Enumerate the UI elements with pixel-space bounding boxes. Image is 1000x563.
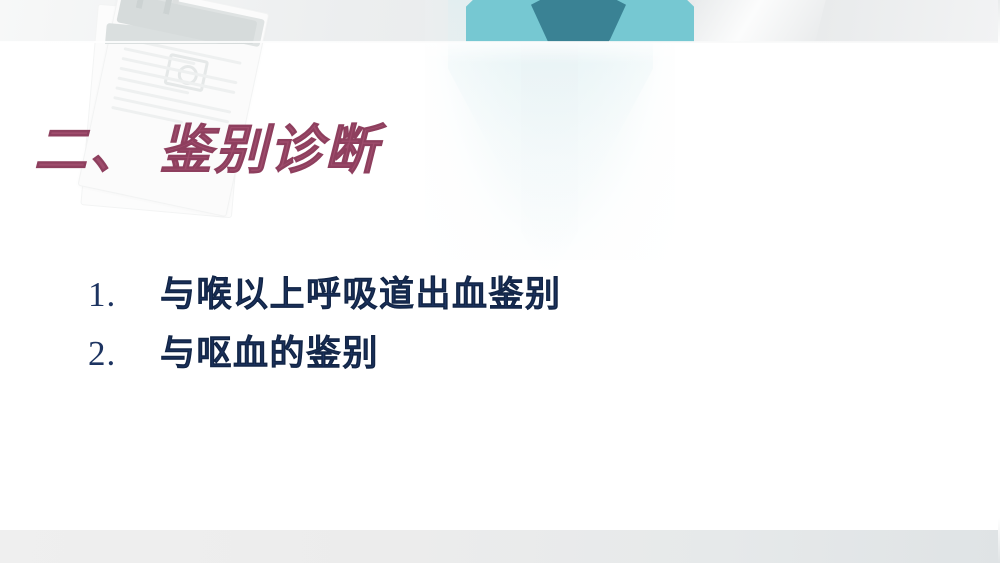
list-item: 2. 与呕血的鉴别 [88,325,562,376]
slide-body-list: 1. 与喉以上呼吸道出血鉴别 2. 与呕血的鉴别 [88,266,562,384]
presentation-slide: 二、 鉴别诊断 1. 与喉以上呼吸道出血鉴别 2. 与呕血的鉴别 [0,0,1000,563]
slide-title: 二、 鉴别诊断 [34,108,379,184]
list-item-text: 与呕血的鉴别 [160,325,379,376]
list-item-number: 1. [88,275,160,315]
bottom-decorative-band [0,530,1000,563]
clipboard-watermark-band-overlap [92,0,260,44]
top-band-edge [0,41,1000,43]
list-item-text: 与喉以上呼吸道出血鉴别 [160,266,562,317]
list-item: 1. 与喉以上呼吸道出血鉴别 [88,266,562,317]
pentagon-center [531,0,626,42]
list-item-number: 2. [88,334,160,374]
